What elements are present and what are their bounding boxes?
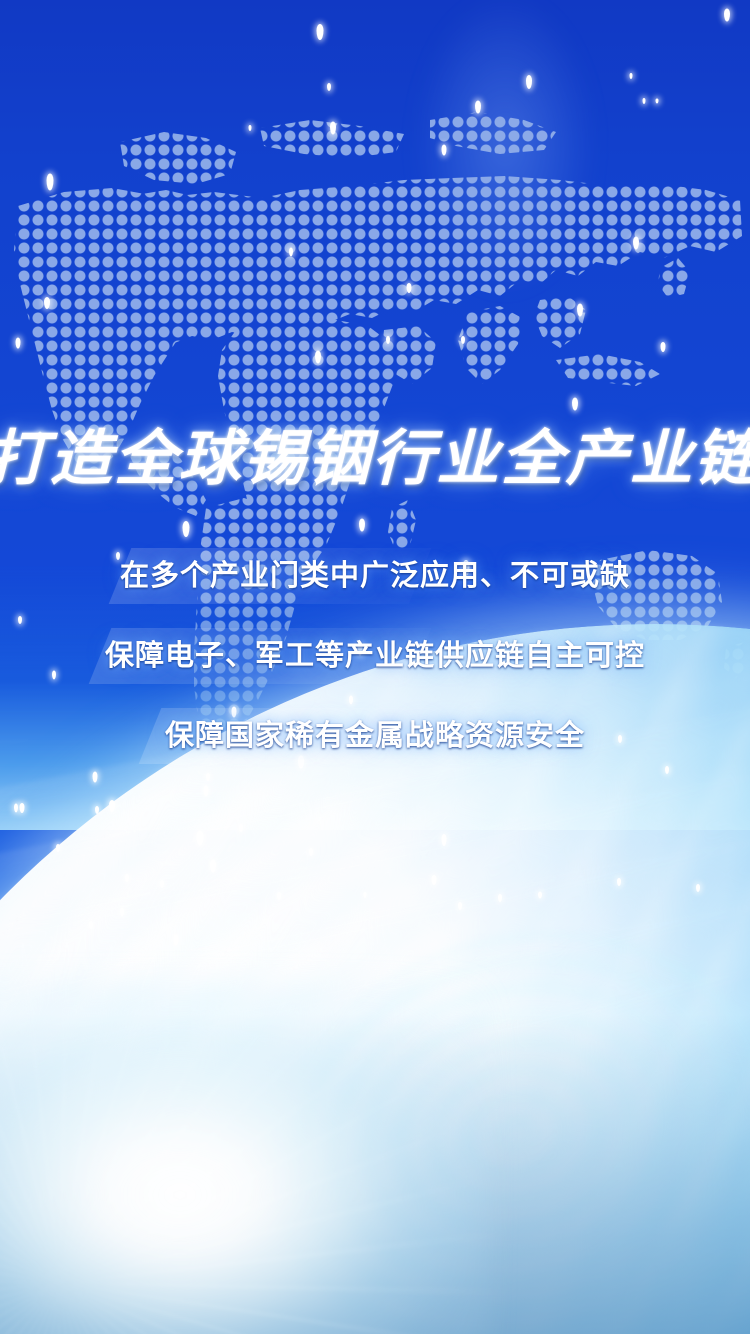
poster-root: 打造全球锡铟行业全产业链链主 在多个产业门类中广泛应用、不可或缺 保障电子、军工… bbox=[0, 0, 750, 1334]
subtitle-line-3: 保障国家稀有金属战略资源安全 bbox=[0, 716, 750, 756]
subtitle-line-2: 保障电子、军工等产业链供应链自主可控 bbox=[0, 636, 750, 676]
sun-light-burst bbox=[0, 980, 490, 1334]
subtitle-group: 在多个产业门类中广泛应用、不可或缺 保障电子、军工等产业链供应链自主可控 保障国… bbox=[0, 556, 750, 756]
page-title: 打造全球锡铟行业全产业链链主 bbox=[0, 424, 750, 494]
subtitle-line-1: 在多个产业门类中广泛应用、不可或缺 bbox=[0, 556, 750, 596]
